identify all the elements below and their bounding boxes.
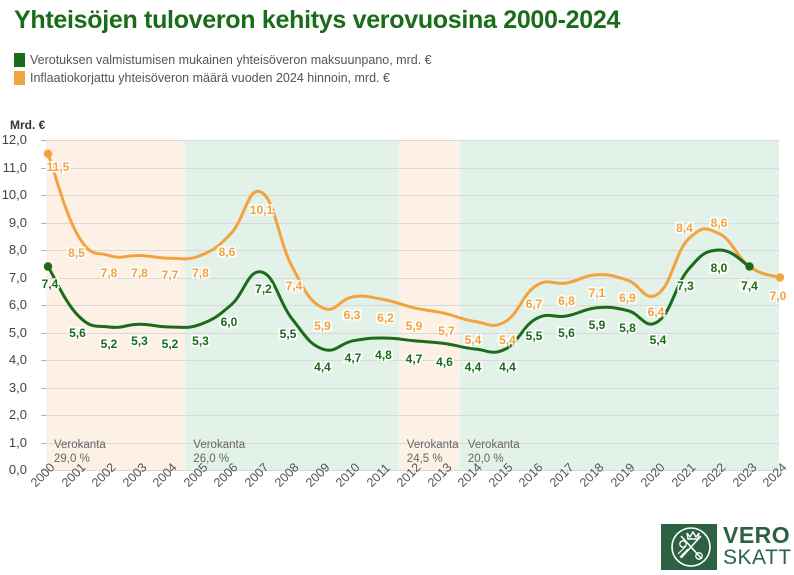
series-line — [48, 154, 780, 326]
logo-wordmark: VERO SKATT — [723, 524, 792, 569]
band-note: Verokanta29,0 % — [54, 438, 106, 466]
data-label: 10,1 — [250, 203, 273, 217]
y-axis-tick-label: 4,0 — [0, 352, 27, 367]
data-label: 4,6 — [436, 355, 453, 369]
data-label: 4,7 — [345, 351, 362, 365]
data-label: 4,4 — [499, 360, 516, 374]
band-note: Verokanta24,5 % — [407, 438, 459, 466]
y-axis-unit-label: Mrd. € — [10, 118, 45, 132]
vero-coat-of-arms-icon — [661, 524, 717, 570]
data-label: 8,0 — [711, 261, 728, 275]
legend-label-inflaatiokorjattu: Inflaatiokorjattu yhteisöveron määrä vuo… — [30, 71, 390, 85]
band-note-label: Verokanta — [468, 438, 520, 452]
y-axis-tick-label: 11,0 — [0, 160, 27, 175]
data-label: 6,3 — [344, 308, 361, 322]
data-label: 5,9 — [314, 319, 331, 333]
data-label: 7,8 — [101, 266, 118, 280]
y-axis-tick-label: 10,0 — [0, 187, 27, 202]
band-note-rate: 26,0 % — [193, 452, 245, 466]
legend-label-maksuunpano: Verotuksen valmistumisen mukainen yhteis… — [30, 53, 432, 67]
data-label: 6,0 — [221, 315, 238, 329]
data-label: 5,4 — [465, 333, 482, 347]
y-axis-tick-label: 0,0 — [0, 462, 27, 477]
data-label: 5,7 — [438, 324, 455, 338]
data-label: 5,4 — [499, 333, 516, 347]
data-label: 6,8 — [558, 294, 575, 308]
data-label: 4,7 — [406, 352, 423, 366]
band-note: Verokanta26,0 % — [193, 438, 245, 466]
y-axis-tick-label: 2,0 — [0, 407, 27, 422]
legend-swatch-orange — [14, 71, 25, 85]
y-axis-tick-label: 8,0 — [0, 242, 27, 257]
plot-area: 0,01,02,03,04,05,06,07,08,09,010,011,012… — [46, 140, 779, 470]
data-label: 4,4 — [314, 360, 331, 374]
band-note-label: Verokanta — [407, 438, 459, 452]
data-label: 6,2 — [377, 311, 394, 325]
data-label: 8,5 — [68, 246, 85, 260]
data-label: 5,2 — [162, 337, 179, 351]
band-note-label: Verokanta — [54, 438, 106, 452]
y-axis-tick-label: 6,0 — [0, 297, 27, 312]
series-line — [48, 250, 750, 352]
legend-item-inflaatiokorjattu: Inflaatiokorjattu yhteisöveron määrä vuo… — [14, 70, 432, 86]
data-label: 5,3 — [192, 334, 209, 348]
page-title: Yhteisöjen tuloveron kehitys verovuosina… — [14, 6, 620, 35]
band-note-rate: 29,0 % — [54, 452, 106, 466]
data-label: 6,9 — [619, 291, 636, 305]
data-point-marker — [44, 150, 52, 158]
data-label: 5,5 — [280, 327, 297, 341]
data-label: 7,4 — [42, 277, 59, 291]
y-axis-tick-label: 1,0 — [0, 435, 27, 450]
data-label: 7,0 — [770, 289, 787, 303]
data-label: 5,4 — [650, 333, 667, 347]
band-note-rate: 24,5 % — [407, 452, 459, 466]
vero-emblem-icon — [661, 524, 717, 570]
y-axis-tick-label: 5,0 — [0, 325, 27, 340]
data-label: 4,8 — [375, 348, 392, 362]
band-note: Verokanta20,0 % — [468, 438, 520, 466]
data-label: 7,7 — [162, 268, 179, 282]
data-label: 5,6 — [558, 326, 575, 340]
data-label: 7,8 — [192, 266, 209, 280]
data-label: 6,7 — [526, 297, 543, 311]
data-label: 7,1 — [589, 286, 606, 300]
data-point-marker — [776, 273, 784, 281]
data-label: 5,6 — [69, 326, 86, 340]
data-label: 4,4 — [465, 360, 482, 374]
legend: Verotuksen valmistumisen mukainen yhteis… — [14, 52, 432, 88]
data-label: 8,6 — [711, 216, 728, 230]
data-label: 8,4 — [676, 221, 693, 235]
y-axis-tick-label: 7,0 — [0, 270, 27, 285]
data-point-marker — [745, 262, 753, 270]
data-label: 5,9 — [406, 319, 423, 333]
series-lines — [46, 140, 779, 470]
data-label: 7,3 — [677, 279, 694, 293]
logo-line-skatt: SKATT — [723, 547, 792, 569]
y-axis-tick-label: 3,0 — [0, 380, 27, 395]
band-note-label: Verokanta — [193, 438, 245, 452]
legend-swatch-green — [14, 53, 25, 67]
data-label: 5,5 — [526, 329, 543, 343]
data-label: 5,3 — [131, 334, 148, 348]
data-label: 7,4 — [741, 279, 758, 293]
data-label: 5,2 — [101, 337, 118, 351]
data-label: 7,8 — [131, 266, 148, 280]
data-label: 11,5 — [47, 160, 70, 174]
data-label: 7,4 — [286, 279, 303, 293]
y-axis-tick-label: 12,0 — [0, 132, 27, 147]
band-note-rate: 20,0 % — [468, 452, 520, 466]
legend-item-maksuunpano: Verotuksen valmistumisen mukainen yhteis… — [14, 52, 432, 68]
y-axis-tick-label: 9,0 — [0, 215, 27, 230]
data-point-marker — [44, 262, 52, 270]
data-label: 6,4 — [648, 305, 665, 319]
data-label: 7,2 — [255, 282, 272, 296]
data-label: 5,8 — [619, 321, 636, 335]
vero-skatt-logo: VERO SKATT — [661, 524, 787, 570]
chart-root: Yhteisöjen tuloveron kehitys verovuosina… — [0, 0, 794, 575]
logo-line-vero: VERO — [723, 524, 792, 547]
data-label: 5,9 — [589, 318, 606, 332]
data-label: 8,6 — [219, 245, 236, 259]
